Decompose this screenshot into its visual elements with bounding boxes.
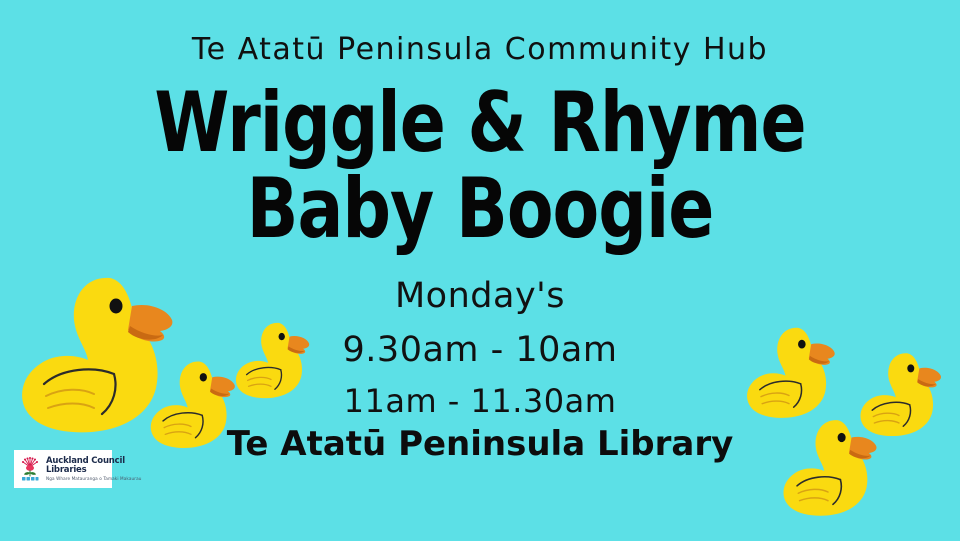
logo-line-libraries: Libraries	[46, 466, 142, 475]
auckland-council-libraries-logo: Auckland Council Libraries Nga Whare Mat…	[14, 450, 112, 488]
pohutukawa-flower-icon	[18, 456, 42, 482]
venue-name: Te Atatū Peninsula Library	[0, 424, 960, 464]
hub-name-kicker: Te Atatū Peninsula Community Hub	[0, 32, 960, 67]
session-time-2: 11am - 11.30am	[0, 382, 960, 420]
headline-line-2: Baby Boogie	[0, 169, 960, 252]
logo-wordmark: Auckland Council Libraries Nga Whare Mat…	[46, 457, 142, 481]
headline-line-1: Wriggle & Rhyme	[0, 83, 960, 166]
session-day: Monday's	[0, 276, 960, 316]
logo-line-maori-subtitle: Nga Whare Matauranga o Tamaki Makaurau	[46, 477, 142, 481]
event-poster: Te Atatū Peninsula Community Hub Wriggle…	[0, 0, 960, 541]
session-time-1: 9.30am - 10am	[0, 330, 960, 370]
logo-line-auckland-council: Auckland Council	[46, 457, 142, 466]
